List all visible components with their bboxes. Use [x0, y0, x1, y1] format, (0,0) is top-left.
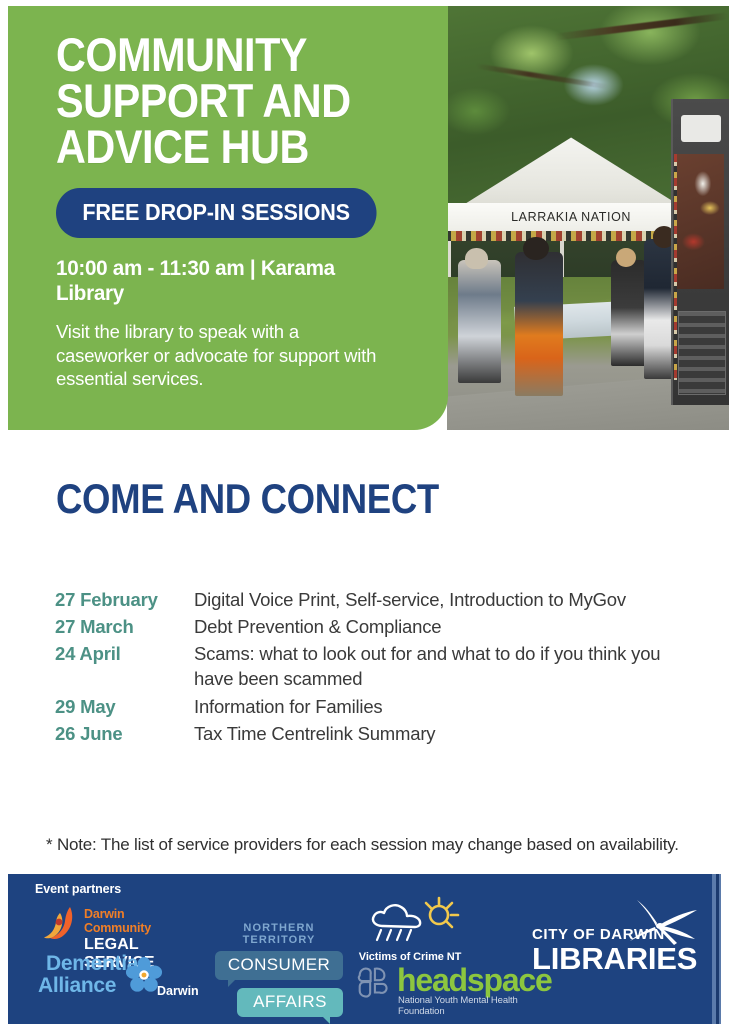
schedule-row: 27 March Debt Prevention & Compliance	[55, 614, 695, 639]
hero-green-panel: COMMUNITY SUPPORT AND ADVICE HUB FREE DR…	[8, 6, 448, 430]
logo-headspace: headspace National Youth Mental Health F…	[353, 962, 528, 1008]
schedule-topic: Digital Voice Print, Self-service, Intro…	[194, 587, 626, 612]
schedule-row: 24 April Scams: what to look out for and…	[55, 641, 695, 691]
dragonfly-icon	[627, 896, 701, 950]
footer-partners-bar: Event partners Darwin Community LEGAL SE…	[8, 874, 721, 1024]
ntca-bubble-affairs: AFFAIRS	[237, 988, 343, 1017]
photo-person-2	[515, 252, 563, 396]
ntca-bubble-consumer: CONSUMER	[215, 951, 343, 980]
availability-note: * Note: The list of service providers fo…	[46, 835, 679, 855]
photo-banner-side-strip	[674, 154, 677, 380]
logo-nt-consumer-affairs: NORTHERN TERRITORY CONSUMER AFFAIRS	[215, 922, 343, 1002]
photo-pull-up-banner	[671, 99, 729, 404]
hero-section: LARRAKIA NATION COMMUNITY SUPPORT A	[8, 6, 729, 430]
schedule-row: 27 February Digital Voice Print, Self-se…	[55, 587, 695, 612]
schedule-date: 27 February	[55, 587, 194, 612]
schedule-date: 27 March	[55, 614, 194, 639]
schedule-date: 26 June	[55, 721, 194, 746]
hero-description: Visit the library to speak with a casewo…	[56, 320, 386, 391]
logo-darwin-community-legal-service: Darwin Community LEGAL SERVICE	[40, 903, 192, 945]
event-partners-label: Event partners	[35, 882, 121, 896]
dementia-line-2: Alliance	[38, 974, 116, 998]
poster: LARRAKIA NATION COMMUNITY SUPPORT A	[0, 0, 729, 1024]
schedule-row: 26 June Tax Time Centrelink Summary	[55, 721, 695, 746]
schedule-date: 29 May	[55, 694, 194, 719]
photo-person-1-head	[465, 248, 488, 269]
body-section: COME AND CONNECT 27 February Digital Voi…	[8, 432, 721, 872]
ntca-top-line: NORTHERN TERRITORY	[215, 922, 343, 946]
headspace-mark-icon	[353, 964, 393, 1002]
time-and-location: 10:00 am - 11:30 am | Karama Library	[56, 256, 404, 306]
dcls-flame-icon	[40, 903, 80, 943]
logo-dementia-alliance-darwin: Dementia Alliance Darwin	[38, 952, 213, 1000]
logo-victims-of-crime-nt: Victims of Crime NT	[355, 896, 465, 962]
photo-person-3	[611, 260, 648, 366]
sun-cloud-rain-icon	[355, 896, 465, 944]
schedule-topic: Information for Families	[194, 694, 382, 719]
dcls-line-1: Darwin Community	[84, 907, 192, 935]
poster-title: COMMUNITY SUPPORT AND ADVICE HUB	[56, 32, 375, 170]
schedule-topic: Tax Time Centrelink Summary	[194, 721, 435, 746]
photo-marquee-banner-text: LARRAKIA NATION	[511, 210, 631, 224]
hero-photo: LARRAKIA NATION	[447, 6, 729, 430]
photo-person-3-head	[616, 248, 636, 267]
footer-right-edge-inner	[716, 874, 719, 1024]
schedule-row: 29 May Information for Families	[55, 694, 695, 719]
photo-banner-text-rows	[678, 311, 726, 395]
photo-banner-logo	[681, 115, 722, 142]
come-and-connect-heading: COME AND CONNECT	[56, 475, 439, 523]
logo-city-of-darwin-libraries: CITY OF DARWIN LIBRARIES	[532, 926, 707, 996]
dementia-line-3: Darwin	[157, 984, 199, 998]
session-schedule: 27 February Digital Voice Print, Self-se…	[55, 587, 695, 748]
photo-banner-artwork	[677, 154, 724, 288]
schedule-topic: Scams: what to look out for and what to …	[194, 641, 684, 691]
photo-person-1	[458, 260, 500, 383]
schedule-topic: Debt Prevention & Compliance	[194, 614, 441, 639]
free-drop-in-sessions-badge: FREE DROP-IN SESSIONS	[56, 188, 376, 238]
photo-person-2-head	[523, 237, 548, 260]
headspace-wordmark: headspace	[397, 962, 552, 999]
headspace-tagline: National Youth Mental Health Foundation	[398, 995, 528, 1017]
schedule-date: 24 April	[55, 641, 194, 666]
